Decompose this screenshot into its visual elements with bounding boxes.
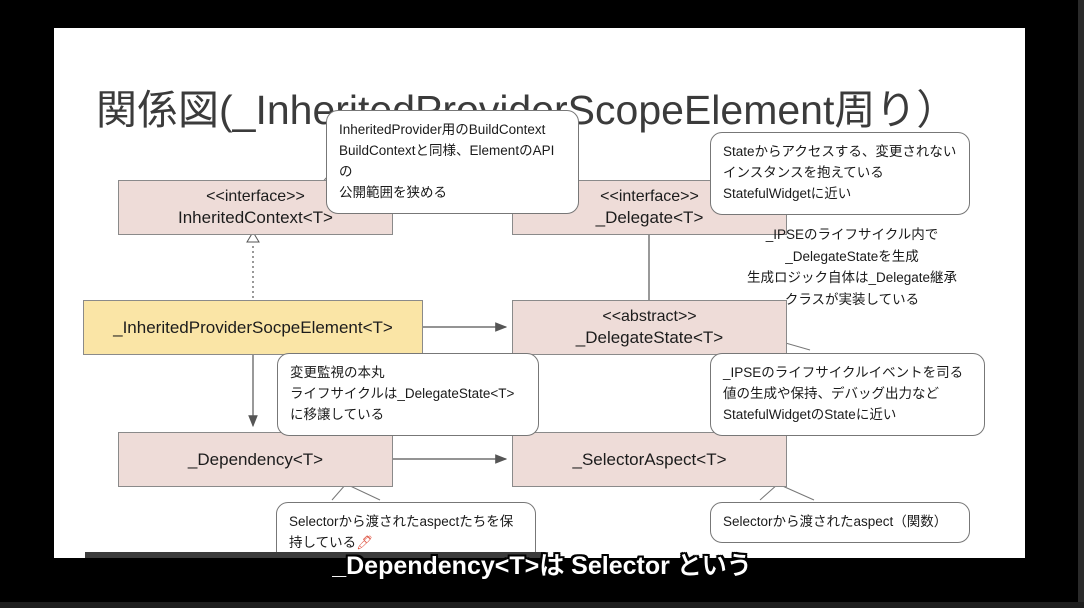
node-name: _Delegate<T> [596,207,704,228]
node-stereotype: <<abstract>> [602,307,696,327]
slide-canvas: 関係図(_InheritedProviderScopeElement周り） [54,28,1025,558]
callout-dependency-text: Selectorから渡されたaspectたちを保 持している [289,514,513,550]
callout-inherited-context: InheritedProvider用のBuildContext BuildCon… [326,110,579,214]
node-stereotype: <<interface>> [600,187,699,207]
node-stereotype: <<interface>> [206,187,305,207]
screen: 関係図(_InheritedProviderScopeElement周り） [0,0,1084,608]
node-name: _InheritedProviderSocpeElement<T> [113,317,393,338]
window-frame-right [1078,0,1084,608]
node-name: _Dependency<T> [188,449,323,470]
note-delegate-state-creation: _IPSEのライフサイクル内で _DelegateStateを生成 生成ロジック… [702,224,1002,310]
callout-ipse-element: 変更監視の本丸 ライフサイクルは_DelegateState<T> に移譲してい… [277,353,539,436]
node-name: _SelectorAspect<T> [572,449,726,470]
subtitle-overlay: _Dependency<T>は Selector という [0,546,1084,582]
uml-node-dependency[interactable]: _Dependency<T> [118,432,393,487]
node-name: InheritedContext<T> [178,207,333,228]
window-frame-bottom [0,602,1084,608]
uml-node-selector-aspect[interactable]: _SelectorAspect<T> [512,432,787,487]
uml-node-ipse-element[interactable]: _InheritedProviderSocpeElement<T> [83,300,423,355]
callout-delegate-state: _IPSEのライフサイクルイベントを司る 値の生成や保持、デバッグ出力など St… [710,353,985,436]
callout-selector-aspect: Selectorから渡されたaspect（関数） [710,502,970,543]
node-name: _DelegateState<T> [576,327,723,348]
callout-delegate: Stateからアクセスする、変更されない インスタンスを抱えている Statef… [710,132,970,215]
